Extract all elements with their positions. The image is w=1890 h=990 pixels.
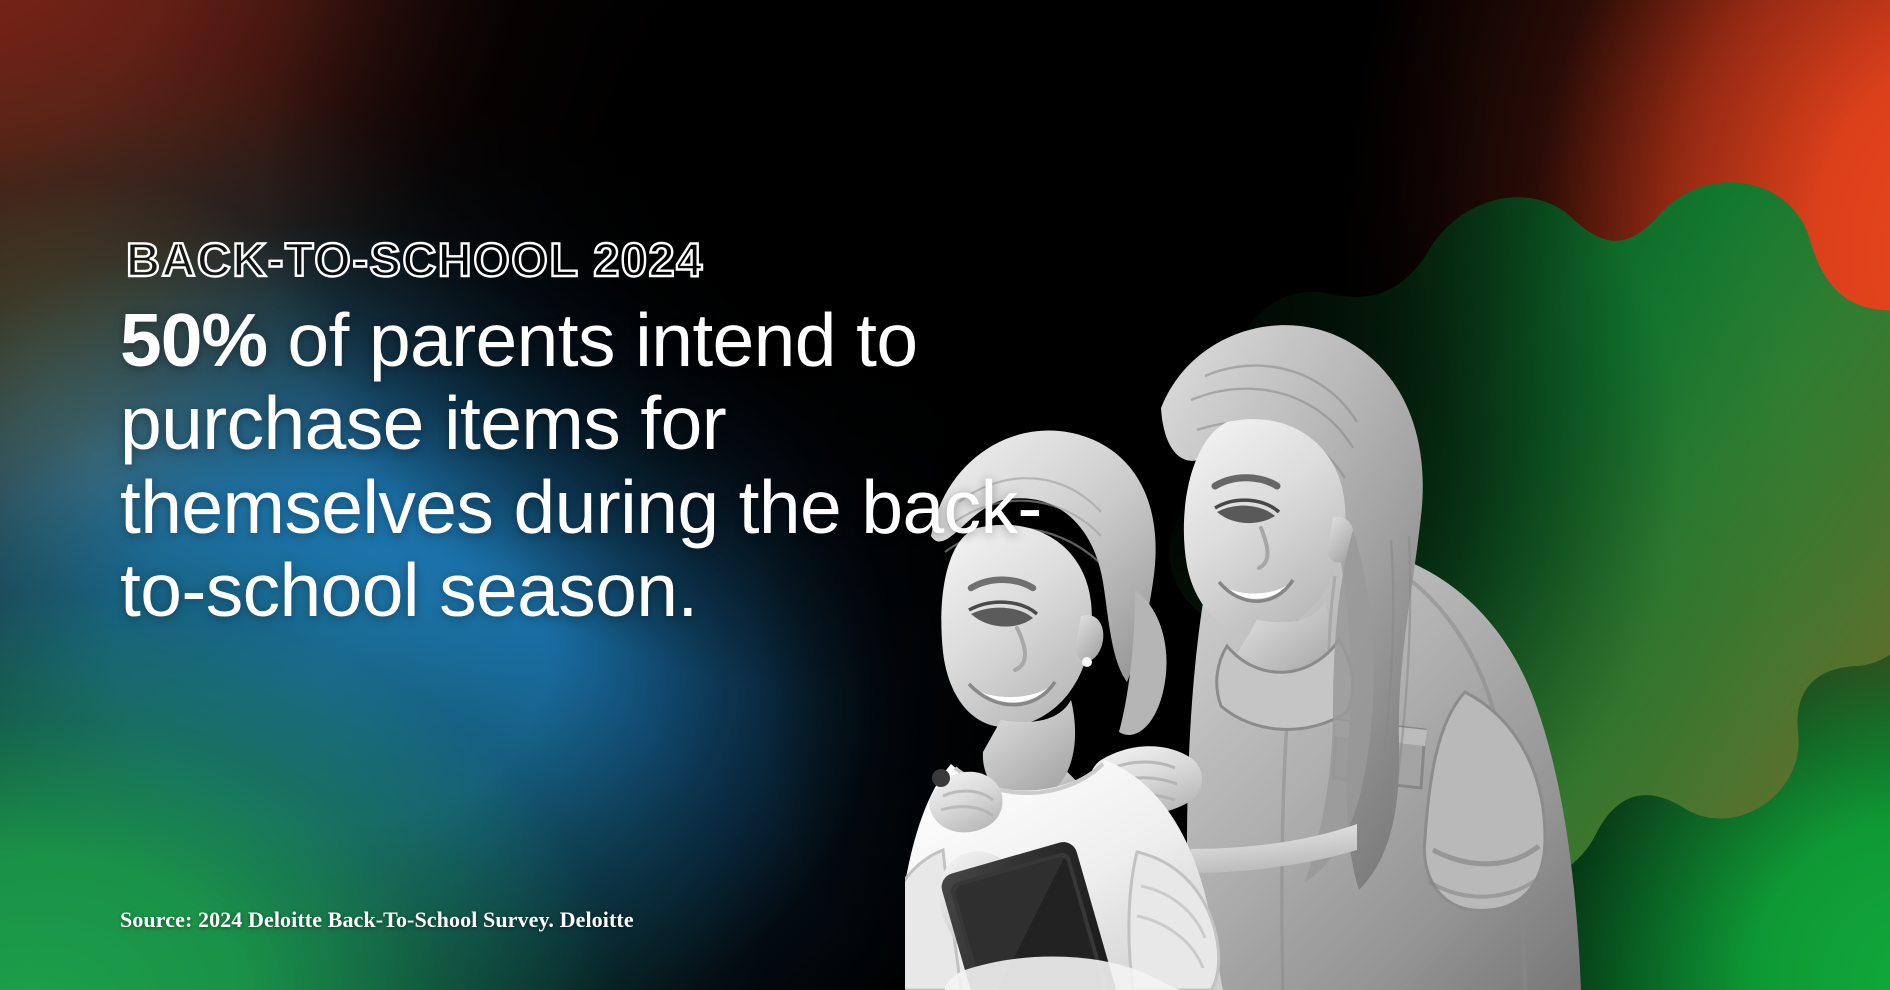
page-title: 50% of parents intend to purchase items … xyxy=(120,299,1100,632)
source-attribution: Source: 2024 Deloitte Back-To-School Sur… xyxy=(120,907,634,933)
copy-block: BACK-TO-SCHOOL 2024 50% of parents inten… xyxy=(120,236,1100,632)
eyebrow-label: BACK-TO-SCHOOL 2024 xyxy=(126,236,1100,283)
stat-percentage: 50% xyxy=(120,298,267,382)
infographic-banner: BACK-TO-SCHOOL 2024 50% of parents inten… xyxy=(0,0,1890,990)
